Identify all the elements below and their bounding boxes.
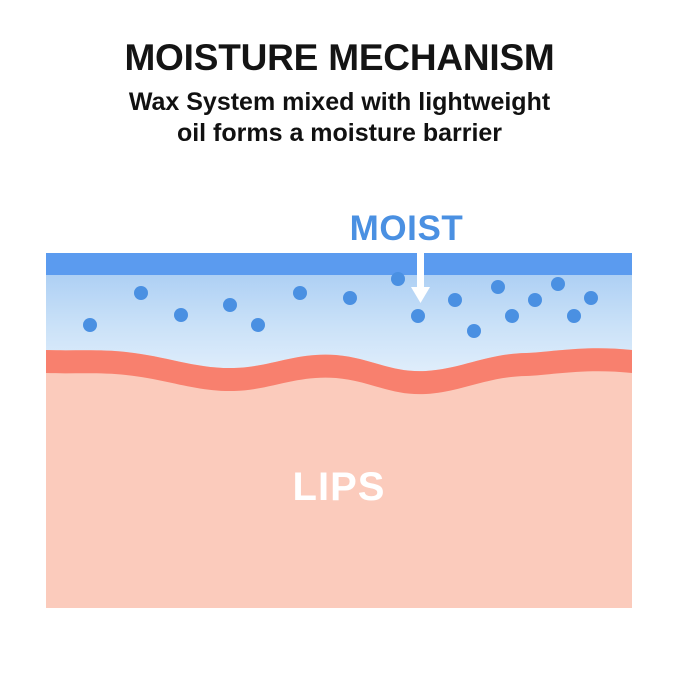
moisture-droplet	[83, 318, 97, 332]
infographic-canvas: MOISTURE MECHANISM Wax System mixed with…	[0, 0, 679, 679]
moisture-droplet	[528, 293, 542, 307]
moisture-droplet	[343, 291, 357, 305]
page-title: MOISTURE MECHANISM	[0, 36, 679, 80]
moisture-droplet	[251, 318, 265, 332]
moist-callout-label: MOIST	[0, 209, 679, 249]
moisture-droplet	[293, 286, 307, 300]
moisture-droplet	[567, 309, 581, 323]
moisture-droplet	[505, 309, 519, 323]
moisture-droplet	[551, 277, 565, 291]
moisture-droplet	[467, 324, 481, 338]
page-subtitle-line-2: oil forms a moisture barrier	[0, 118, 679, 149]
moisture-droplet	[134, 286, 148, 300]
moisture-droplet	[584, 291, 598, 305]
moisture-droplet	[174, 308, 188, 322]
header-block: MOISTURE MECHANISM Wax System mixed with…	[0, 36, 679, 149]
lip-cross-section-diagram	[46, 253, 632, 608]
moisture-droplet	[391, 272, 405, 286]
moisture-droplet	[448, 293, 462, 307]
moisture-droplet	[491, 280, 505, 294]
moisture-droplet	[223, 298, 237, 312]
cross-section-svg	[46, 253, 632, 608]
moisture-droplet	[411, 309, 425, 323]
wax-barrier-bar	[46, 253, 632, 275]
page-subtitle-line-1: Wax System mixed with lightweight	[0, 87, 679, 118]
page-subtitle: Wax System mixed with lightweight oil fo…	[0, 87, 679, 149]
